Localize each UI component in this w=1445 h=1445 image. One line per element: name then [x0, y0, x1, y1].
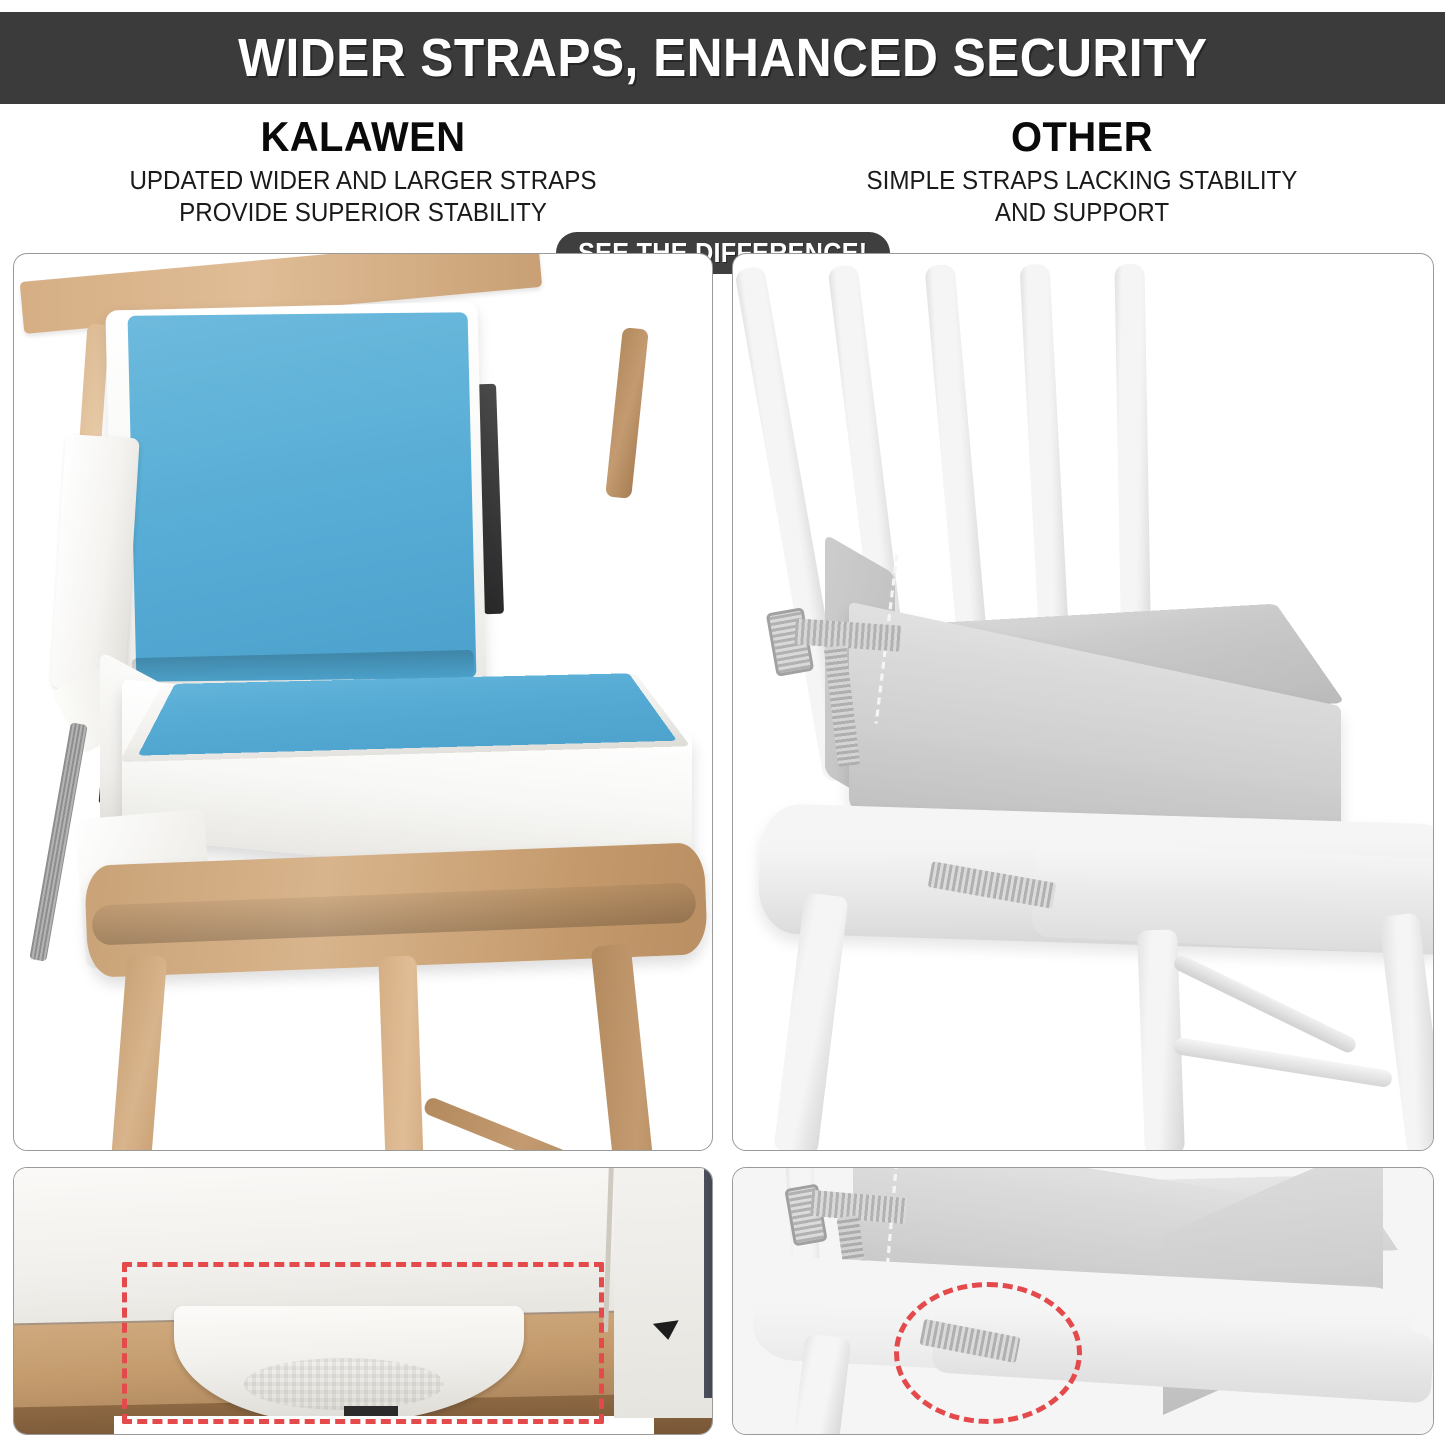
- right-column-heading: OTHER SIMPLE STRAPS LACKING STABILITY AN…: [732, 110, 1432, 228]
- chair-seat-front-edge: [1031, 841, 1434, 956]
- fabric-notch-icon: [653, 1320, 681, 1341]
- other-thin-strap-closeup-scene: [733, 1168, 1433, 1434]
- kalawen-wide-strap-closeup-scene: [14, 1168, 712, 1434]
- chair-leg-front-left: [93, 953, 167, 1151]
- photo-panel-other-main: [732, 253, 1434, 1151]
- chair-leg-back-right: [591, 943, 678, 1151]
- brand-label-kalawen: KALAWEN: [31, 110, 696, 160]
- photo-panel-kalawen-strap-detail: [13, 1167, 713, 1435]
- left-column-description: UPDATED WIDER AND LARGER STRAPS PROVIDE …: [38, 164, 689, 228]
- chair-rung-lower: [1173, 1037, 1393, 1088]
- cushion-dark-edge: [704, 1167, 713, 1398]
- detail-lower-fill: [114, 1416, 654, 1435]
- kalawen-booster-scene: [14, 254, 712, 1150]
- other-booster-scene: [733, 254, 1433, 1150]
- photo-panel-other-strap-detail: [732, 1167, 1434, 1435]
- left-column-heading: KALAWEN UPDATED WIDER AND LARGER STRAPS …: [13, 110, 713, 228]
- cushion-right-panel: [614, 1167, 713, 1418]
- booster-backrest-blue-face: [128, 312, 477, 681]
- photo-panel-kalawen-main: [13, 253, 713, 1151]
- right-column-description: SIMPLE STRAPS LACKING STABILITY AND SUPP…: [757, 164, 1408, 228]
- strap-fabric-texture: [244, 1358, 444, 1410]
- comparison-labels-row: KALAWEN UPDATED WIDER AND LARGER STRAPS …: [0, 110, 1445, 238]
- page-title: WIDER STRAPS, ENHANCED SECURITY: [238, 27, 1207, 89]
- wide-white-strap-upper: [50, 434, 139, 692]
- chair-back-post-right: [605, 327, 649, 499]
- brand-label-other: OTHER: [750, 110, 1415, 160]
- chair-leg-front-right: [378, 955, 431, 1151]
- chair-rung-diagonal: [422, 1096, 622, 1151]
- header-banner: WIDER STRAPS, ENHANCED SECURITY: [0, 12, 1445, 104]
